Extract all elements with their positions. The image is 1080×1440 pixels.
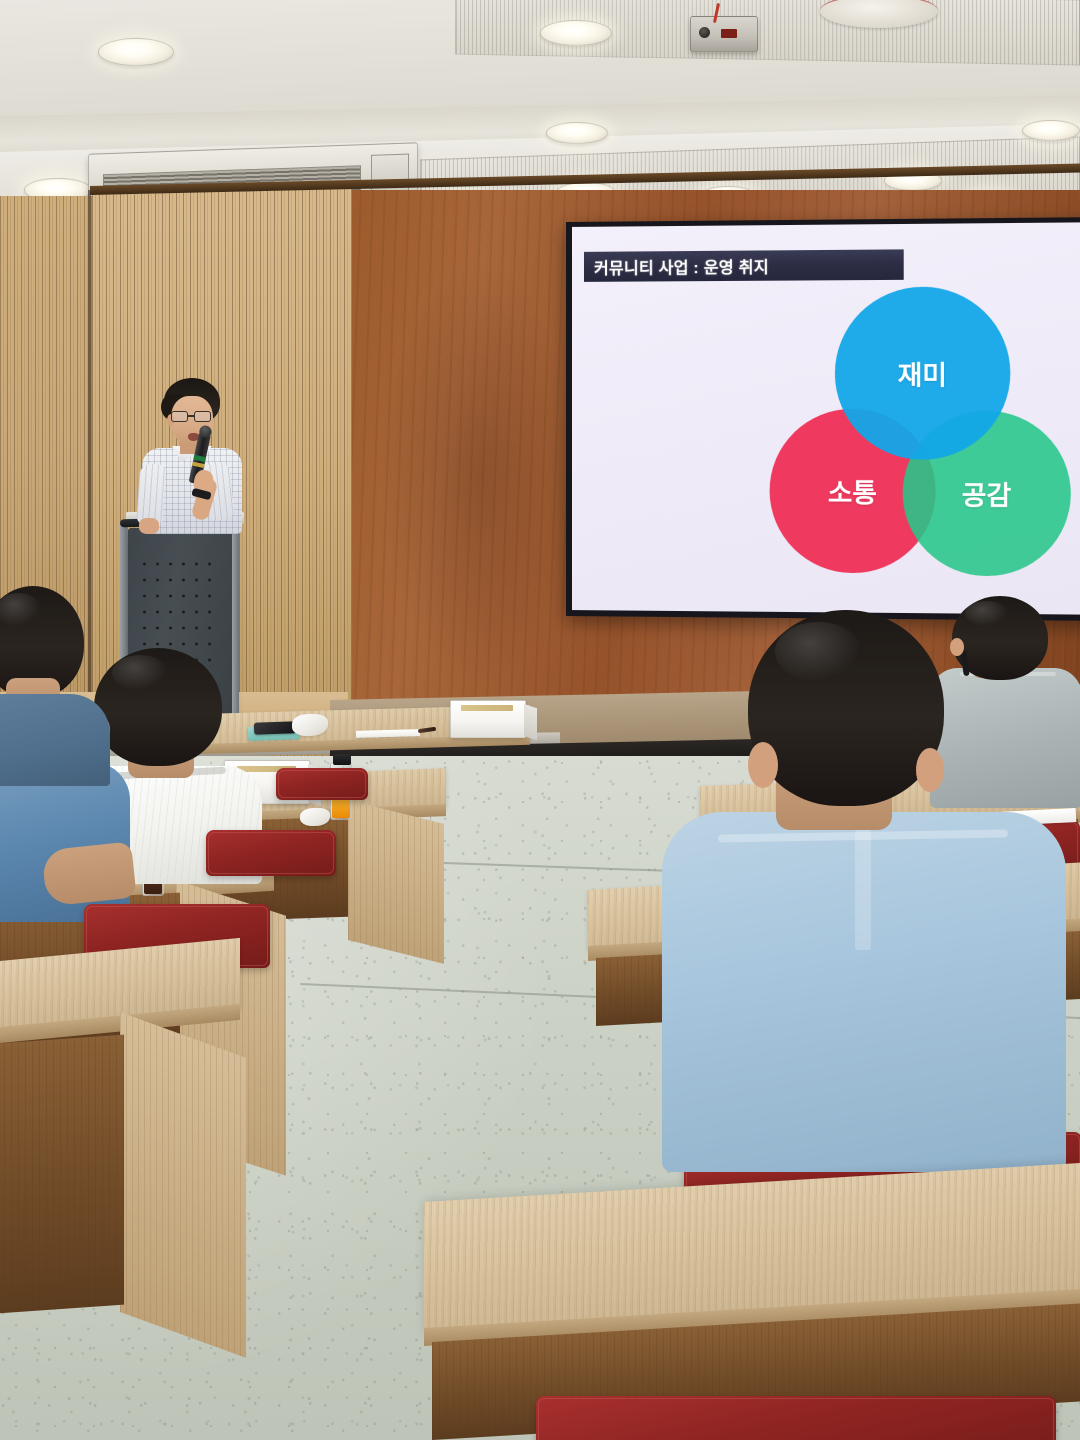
glasses-bridge (188, 415, 195, 417)
venn-label-sotong: 소통 (828, 472, 877, 510)
desk-left-foreground-side (120, 1012, 246, 1358)
seminar-room-photo: 커뮤니티 사업 : 운영 취지 소통 공감 재미 (0, 0, 1080, 1440)
smartphone (254, 721, 296, 734)
downlight-icon (98, 38, 174, 66)
venn-circle-jaemi: 재미 (835, 286, 1010, 460)
venn-label-gonggam: 공감 (962, 475, 1012, 513)
venn-label-jaemi: 재미 (898, 354, 947, 392)
desk-left-mid-side-panel (348, 800, 444, 964)
attendee-foreground-ear-left (748, 742, 778, 788)
microphone-band (193, 455, 206, 462)
chair-foreground (536, 1396, 1056, 1440)
attendee-front-left-arm (41, 841, 136, 906)
projection-screen[interactable]: 커뮤니티 사업 : 운영 취지 소통 공감 재미 (566, 217, 1080, 621)
wall-seam (88, 190, 91, 730)
tissue (300, 808, 330, 826)
desk-modesty-panel (0, 1035, 124, 1314)
attendee-back-right-torso (930, 668, 1080, 808)
lunch-box-back (450, 700, 526, 738)
projector-indicator (721, 29, 737, 38)
bottle-cap (333, 754, 351, 765)
chair-left-mid (206, 830, 336, 876)
lunch-box-stripe (461, 705, 513, 711)
attendee-foreground-head (748, 610, 944, 806)
attendee-back-right-ear (950, 638, 964, 656)
tissue (292, 714, 328, 736)
presenter-left-hand (139, 518, 159, 534)
chair-left-back (276, 768, 368, 800)
slide-title: 커뮤니티 사업 : 운영 취지 (594, 253, 769, 278)
attendee-front-left-shoulder (0, 694, 110, 786)
downlight-icon (546, 122, 608, 144)
attendee-foreground-collar-seam (855, 830, 871, 950)
projector-lens-icon (699, 27, 710, 38)
ceiling-projector (690, 16, 758, 52)
attendee-foreground-ear-right (916, 748, 944, 792)
presenter (120, 378, 260, 538)
downlight-icon (1022, 120, 1080, 141)
slide-title-bar: 커뮤니티 사업 : 운영 취지 (584, 249, 904, 282)
glasses-lens-right (194, 411, 211, 422)
microphone-ring (192, 462, 205, 468)
glasses-lens-left (171, 411, 188, 422)
slide-canvas: 커뮤니티 사업 : 운영 취지 소통 공감 재미 (572, 222, 1080, 614)
podium-post-right (232, 522, 239, 720)
venn-diagram: 소통 공감 재미 (759, 284, 1080, 591)
glasses-icon (170, 411, 214, 422)
lunch-box-side (524, 704, 537, 740)
downlight-icon (540, 20, 612, 46)
attendee-white-shirt-head (94, 648, 222, 766)
